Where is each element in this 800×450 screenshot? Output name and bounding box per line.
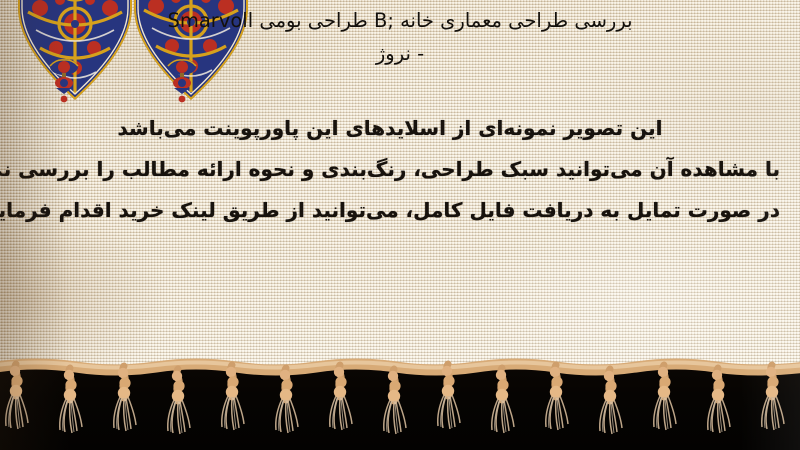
slide-title: بررسی طراحی معماری خانه ;B طراحی بومی Sm… — [18, 4, 782, 70]
slide-body: این تصویر نمونه‌ای از اسلایدهای این پاور… — [0, 108, 800, 231]
slide-canvas: بررسی طراحی معماری خانه ;B طراحی بومی Sm… — [0, 0, 800, 450]
slide-title-line-1: بررسی طراحی معماری خانه ;B طراحی بومی Sm… — [18, 4, 782, 37]
slide-body-line-3: در صورت تمایل به دریافت فایل کامل، می‌تو… — [0, 190, 780, 231]
slide-body-line-2: با مشاهده آن می‌توانید سبک طراحی، رنگ‌بن… — [0, 149, 780, 190]
slide-body-line-1: این تصویر نمونه‌ای از اسلایدهای این پاور… — [0, 108, 780, 149]
carpet-black-ground — [0, 368, 800, 450]
carpet-rope-cord — [0, 358, 800, 376]
slide-title-line-2: - نروژ — [18, 37, 782, 70]
